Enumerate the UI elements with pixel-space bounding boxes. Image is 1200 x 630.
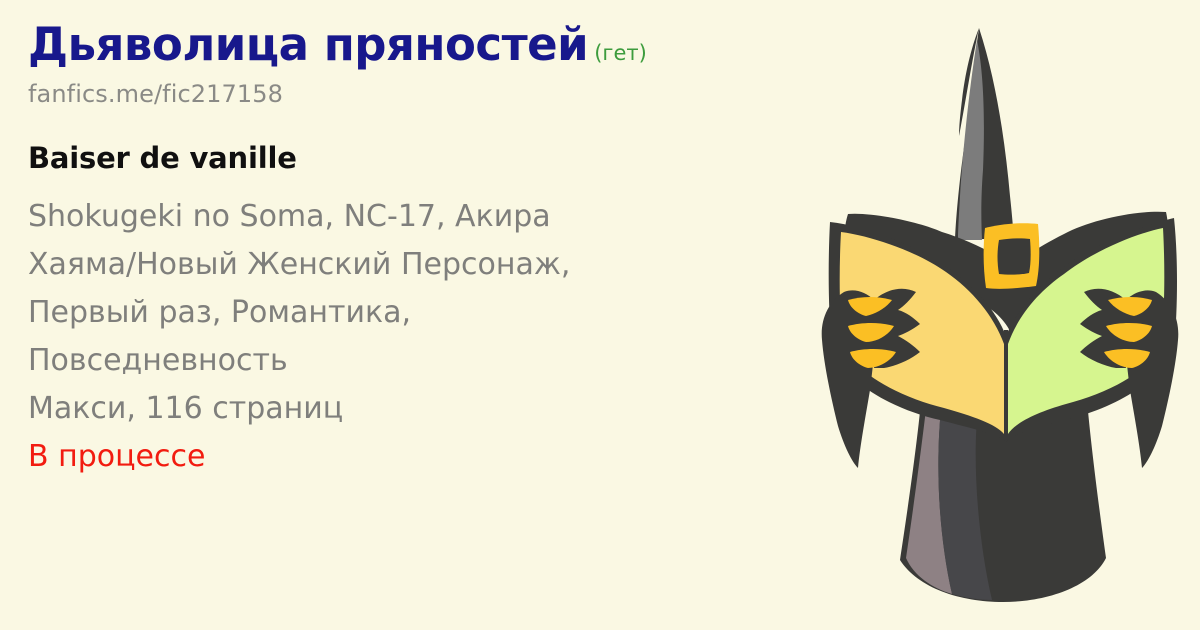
- meta-line-genre: Повседневность: [28, 337, 808, 385]
- text-column: Дьяволица пряностей(гет) fanfics.me/fic2…: [28, 22, 808, 481]
- story-url[interactable]: fanfics.me/fic217158: [28, 80, 808, 108]
- story-category-badge: (гет): [594, 41, 647, 65]
- meta-line-fandom: Shokugeki no Soma, NC-17, Акира: [28, 193, 808, 241]
- meta-line-tags: Первый раз, Романтика,: [28, 289, 808, 337]
- story-metadata: Shokugeki no Soma, NC-17, Акира Хаяма/Но…: [28, 193, 808, 481]
- page-title: Дьяволица пряностей: [28, 18, 588, 71]
- title-line: Дьяволица пряностей(гет): [28, 22, 808, 67]
- witch-reading-book-illustration: [800, 0, 1200, 630]
- book-spine-icon: [1004, 330, 1008, 436]
- meta-line-pairing: Хаяма/Новый Женский Персонаж,: [28, 241, 808, 289]
- chapter-title: Baiser de vanille: [28, 141, 808, 175]
- status-badge: В процессе: [28, 433, 808, 481]
- fanfic-preview-card: Дьяволица пряностей(гет) fanfics.me/fic2…: [0, 0, 1200, 630]
- witch-illustration-svg: [800, 0, 1200, 630]
- meta-line-size: Макси, 116 страниц: [28, 385, 808, 433]
- hat-buckle-icon: [984, 223, 1040, 289]
- witch-hat-highlight-icon: [958, 40, 984, 240]
